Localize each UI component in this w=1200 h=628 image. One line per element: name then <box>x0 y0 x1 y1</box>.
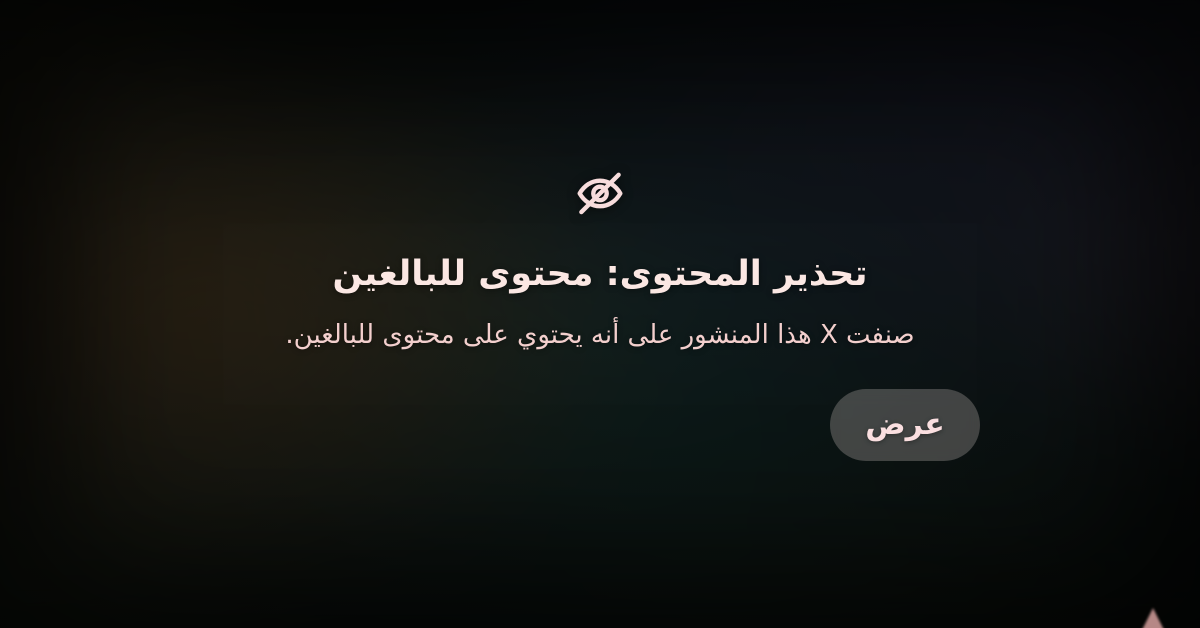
page-title: تحذير المحتوى: محتوى للبالغين <box>333 253 868 295</box>
content-warning-overlay: تحذير المحتوى: محتوى للبالغين صنفت X هذا… <box>0 0 1200 628</box>
content-warning-screen: تحذير المحتوى: محتوى للبالغين صنفت X هذا… <box>0 0 1200 628</box>
button-row: عرض <box>220 353 980 461</box>
view-button[interactable]: عرض <box>830 389 980 461</box>
eye-off-icon <box>574 167 626 219</box>
warning-description: صنفت X هذا المنشور على أنه يحتوي على محت… <box>285 317 914 354</box>
warning-text-block: تحذير المحتوى: محتوى للبالغين صنفت X هذا… <box>220 253 980 354</box>
